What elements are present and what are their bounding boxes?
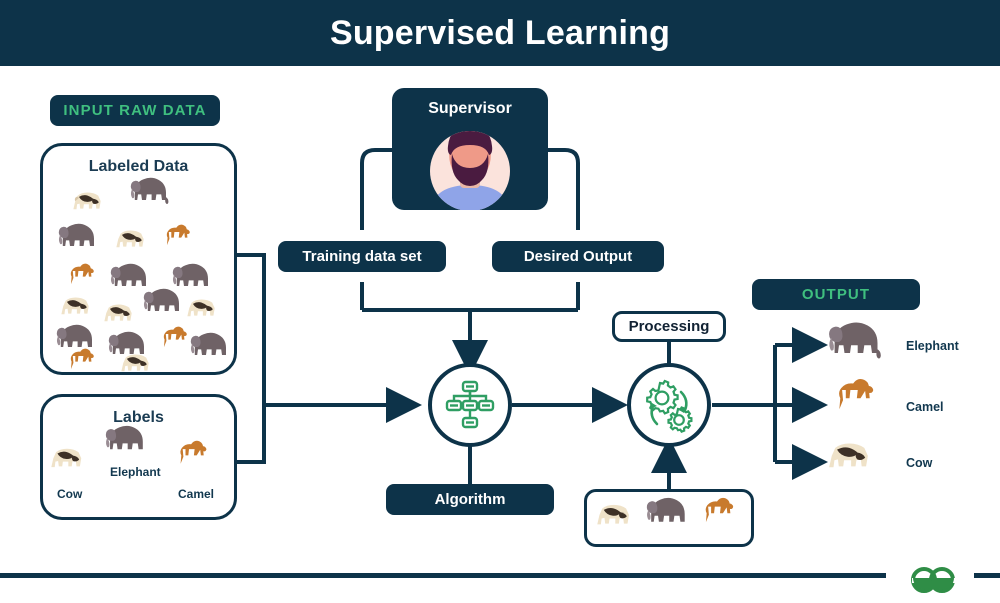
cow-icon	[829, 444, 868, 468]
desired-output-label: Desired Output	[524, 248, 632, 265]
output-result-camel: Camel	[906, 400, 944, 414]
training-data-set-label: Training data set	[302, 248, 421, 265]
supervisor-card: Supervisor	[392, 88, 548, 210]
processing-label: Processing	[629, 318, 710, 335]
hierarchy-tree-icon	[444, 379, 496, 431]
processing-box: Processing	[612, 311, 726, 342]
camel-icon	[839, 379, 873, 409]
desired-output-pill: Desired Output	[492, 241, 664, 272]
processing-node	[627, 363, 711, 447]
algorithm-node	[428, 363, 512, 447]
output-result-elephant: Elephant	[906, 339, 959, 353]
geeksforgeeks-logo	[890, 553, 970, 593]
elephant-icon	[829, 322, 881, 358]
footer-divider-right	[974, 573, 1000, 578]
algorithm-pill: Algorithm	[386, 484, 554, 515]
training-data-set-pill: Training data set	[278, 241, 446, 272]
algorithm-label: Algorithm	[435, 491, 506, 508]
footer-divider-left	[0, 573, 886, 578]
person-avatar-icon	[392, 88, 548, 210]
output-result-cow: Cow	[906, 456, 932, 470]
gears-cycle-icon	[640, 376, 698, 434]
